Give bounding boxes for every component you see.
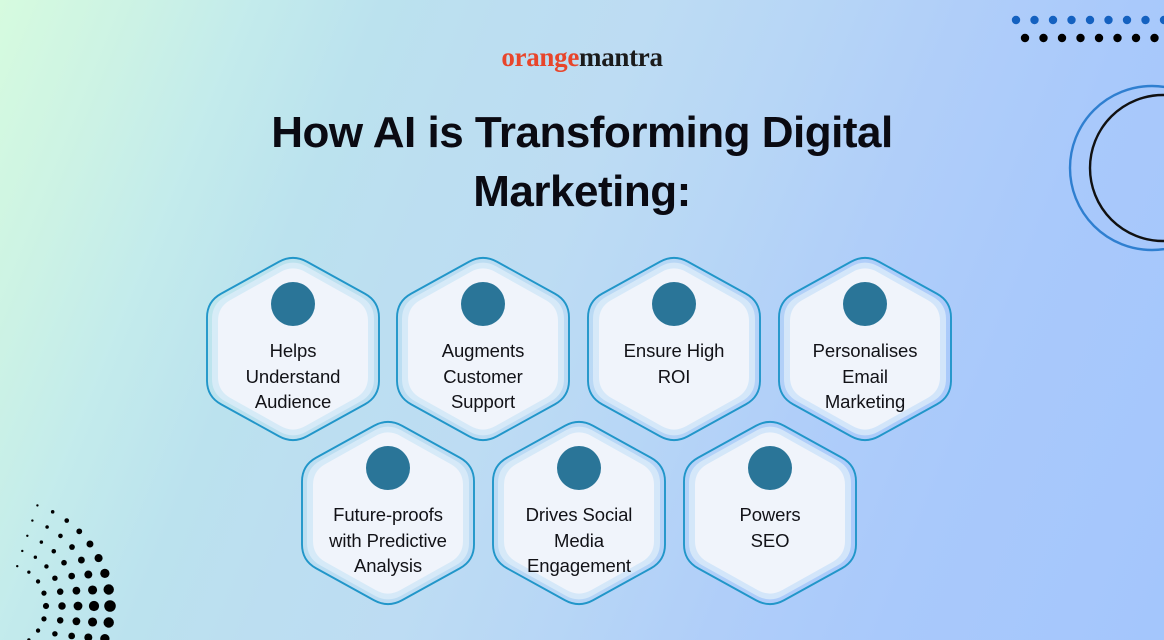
hexagon-label-powers-seo: PowersSEO xyxy=(686,502,854,553)
hexagon-node-circle-icon xyxy=(366,446,410,490)
hexagon-node-circle-icon xyxy=(557,446,601,490)
infographic-canvas: orangemantra How AI is Transforming Digi… xyxy=(0,0,1164,640)
hexagon-label-drives-social-media-engagement: Drives SocialMediaEngagement xyxy=(495,502,663,579)
hexagon-grid: HelpsUnderstandAudienceAugmentsCustomerS… xyxy=(0,0,1164,640)
hexagon-label-future-proofs-predictive-analysis: Future-proofswith PredictiveAnalysis xyxy=(304,502,472,579)
hexagon-node-circle-icon xyxy=(271,282,315,326)
hexagon-node-circle-icon xyxy=(461,282,505,326)
hexagon-card-future-proofs-predictive-analysis[interactable]: Future-proofswith PredictiveAnalysis xyxy=(300,416,476,610)
hexagon-label-ensure-high-roi: Ensure HighROI xyxy=(590,338,758,389)
hexagon-card-powers-seo[interactable]: PowersSEO xyxy=(682,416,858,610)
hexagon-label-personalises-email-marketing: PersonalisesEmailMarketing xyxy=(781,338,949,415)
hexagon-label-helps-understand-audience: HelpsUnderstandAudience xyxy=(209,338,377,415)
hexagon-card-drives-social-media-engagement[interactable]: Drives SocialMediaEngagement xyxy=(491,416,667,610)
hexagon-node-circle-icon xyxy=(652,282,696,326)
hexagon-label-augments-customer-support: AugmentsCustomerSupport xyxy=(399,338,567,415)
hexagon-node-circle-icon xyxy=(748,446,792,490)
hexagon-node-circle-icon xyxy=(843,282,887,326)
